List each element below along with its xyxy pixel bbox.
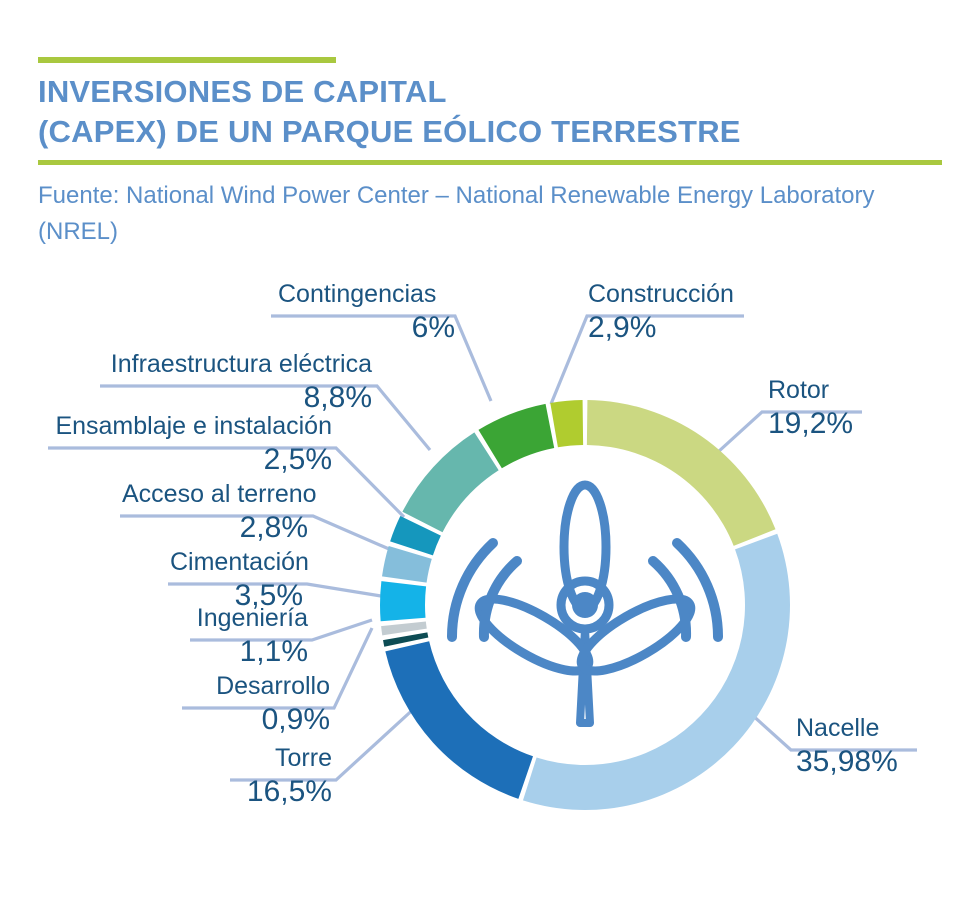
callout-desarrollo: Desarrollo 0,9%	[184, 674, 330, 735]
callout-acceso: Acceso al terreno 2,8%	[122, 482, 308, 543]
title-accent-bar-top	[38, 57, 336, 63]
callout-ensamblaje-value: 2,5%	[50, 445, 332, 475]
callout-acceso-label: Acceso al terreno	[122, 482, 308, 507]
callout-ingenieria: Ingeniería 1,1%	[192, 606, 308, 667]
callout-acceso-value: 2,8%	[122, 513, 308, 543]
callout-ensamblaje: Ensamblaje e instalación 2,5%	[50, 414, 332, 475]
callout-nacelle: Nacelle 35,98%	[796, 716, 898, 777]
donut-slice-cimentaci-n[interactable]	[380, 581, 426, 621]
callout-construccion: Construcción 2,9%	[588, 282, 734, 343]
callout-torre-label: Torre	[232, 746, 332, 771]
turbine-hub-inner	[572, 592, 598, 618]
donut-slice-construcci-n[interactable]	[550, 400, 583, 447]
callout-infraestructura: Infraestructura eléctrica 8,8%	[102, 352, 372, 413]
callout-rotor: Rotor 19,2%	[768, 378, 853, 439]
callout-torre: Torre 16,5%	[232, 746, 332, 807]
donut-chart: Contingencias 6% Construcción 2,9% Rotor…	[0, 262, 980, 862]
callout-ensamblaje-label: Ensamblaje e instalación	[50, 414, 332, 439]
donut-slice-rotor[interactable]	[587, 400, 776, 546]
callout-cimentacion-label: Cimentación	[170, 550, 303, 575]
donut-slice-torre[interactable]	[385, 641, 533, 799]
callout-contingencias: Contingencias 6%	[278, 282, 455, 343]
callout-rotor-label: Rotor	[768, 378, 853, 403]
donut-slice-infraestructura-el-ctrica[interactable]	[402, 432, 498, 532]
callout-desarrollo-value: 0,9%	[184, 705, 330, 735]
callout-construccion-value: 2,9%	[588, 313, 734, 343]
callout-ingenieria-value: 1,1%	[192, 637, 308, 667]
callout-contingencias-value: 6%	[278, 313, 455, 343]
source-subtitle: Fuente: National Wind Power Center – Nat…	[38, 178, 943, 250]
callout-infraestructura-value: 8,8%	[102, 383, 372, 413]
callout-nacelle-label: Nacelle	[796, 716, 898, 741]
callout-nacelle-value: 35,98%	[796, 747, 898, 777]
callout-rotor-value: 19,2%	[768, 409, 853, 439]
callout-construccion-label: Construcción	[588, 282, 734, 307]
callout-contingencias-label: Contingencias	[278, 282, 455, 307]
title-accent-bar-bottom	[38, 160, 942, 165]
wind-turbine-icon	[452, 485, 718, 723]
infographic-root: INVERSIONES DE CAPITAL (CAPEX) DE UN PAR…	[0, 0, 980, 899]
page-title: INVERSIONES DE CAPITAL (CAPEX) DE UN PAR…	[38, 72, 938, 152]
callout-torre-value: 16,5%	[232, 777, 332, 807]
callout-desarrollo-label: Desarrollo	[184, 674, 330, 699]
callout-infraestructura-label: Infraestructura eléctrica	[102, 352, 372, 377]
donut-slice-ingenier-a[interactable]	[381, 621, 427, 635]
callout-ingenieria-label: Ingeniería	[192, 606, 308, 631]
callout-cimentacion: Cimentación 3,5%	[170, 550, 303, 611]
